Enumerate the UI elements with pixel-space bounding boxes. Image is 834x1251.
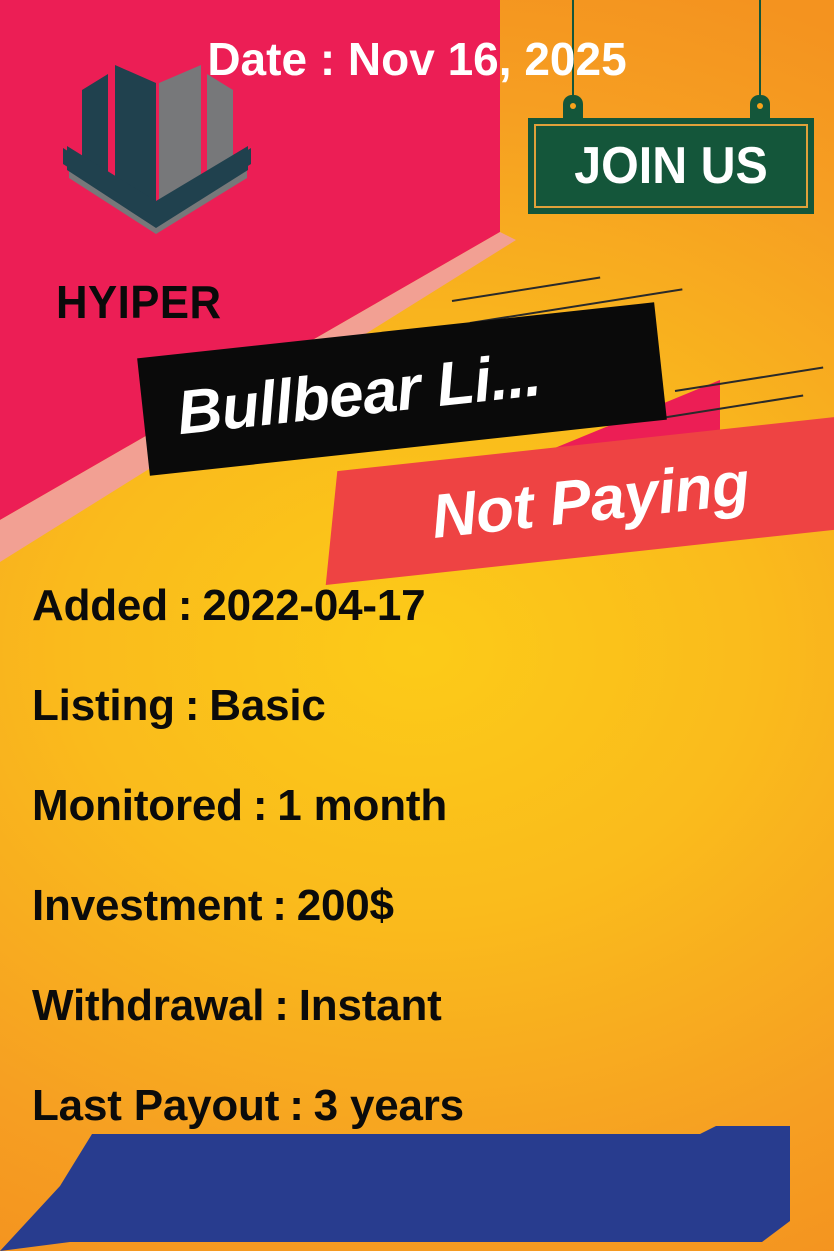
footer-date-label: Date : Nov 16, 2025 xyxy=(207,32,626,86)
detail-value: 2022-04-17 xyxy=(202,581,425,631)
footer-date-bar-content: Date : Nov 16, 2025 xyxy=(0,0,834,125)
detail-value: 3 years xyxy=(314,1081,464,1131)
detail-separator: : xyxy=(185,681,199,731)
detail-separator: : xyxy=(289,1081,303,1131)
detail-value: Instant xyxy=(299,981,442,1031)
detail-value: Basic xyxy=(209,681,325,731)
detail-separator: : xyxy=(178,581,192,631)
program-title: Bullbear Li... xyxy=(173,339,544,449)
detail-value: 200$ xyxy=(297,881,394,931)
footer-date-bar xyxy=(0,1126,834,1251)
join-us-label: JOIN US xyxy=(574,136,767,196)
detail-value: 1 month xyxy=(277,781,447,831)
decorative-line-icon xyxy=(452,277,600,302)
detail-row-withdrawal: Withdrawal : Instant xyxy=(32,956,794,1056)
detail-key: Monitored xyxy=(32,781,243,831)
detail-separator: : xyxy=(272,881,286,931)
detail-key: Added xyxy=(32,581,168,631)
brand-name: HYIPER xyxy=(56,275,222,329)
detail-key: Listing xyxy=(32,681,175,731)
detail-separator: : xyxy=(253,781,267,831)
detail-separator: : xyxy=(274,981,288,1031)
detail-key: Withdrawal xyxy=(32,981,264,1031)
detail-key: Last Payout xyxy=(32,1081,279,1131)
detail-key: Investment xyxy=(32,881,262,931)
detail-row-monitored: Monitored : 1 month xyxy=(32,756,794,856)
decorative-line-icon xyxy=(675,367,823,392)
detail-row-listing: Listing : Basic xyxy=(32,656,794,756)
status-badge: Not Paying xyxy=(428,447,753,552)
detail-row-investment: Investment : 200$ xyxy=(32,856,794,956)
detail-row-added: Added : 2022-04-17 xyxy=(32,556,794,656)
join-us-board[interactable]: JOIN US xyxy=(528,118,814,214)
program-details-list: Added : 2022-04-17 Listing : Basic Monit… xyxy=(32,556,794,1156)
hyip-promo-card: HYIPER JOIN US Bullbear Li... Not Paying… xyxy=(0,0,834,1251)
